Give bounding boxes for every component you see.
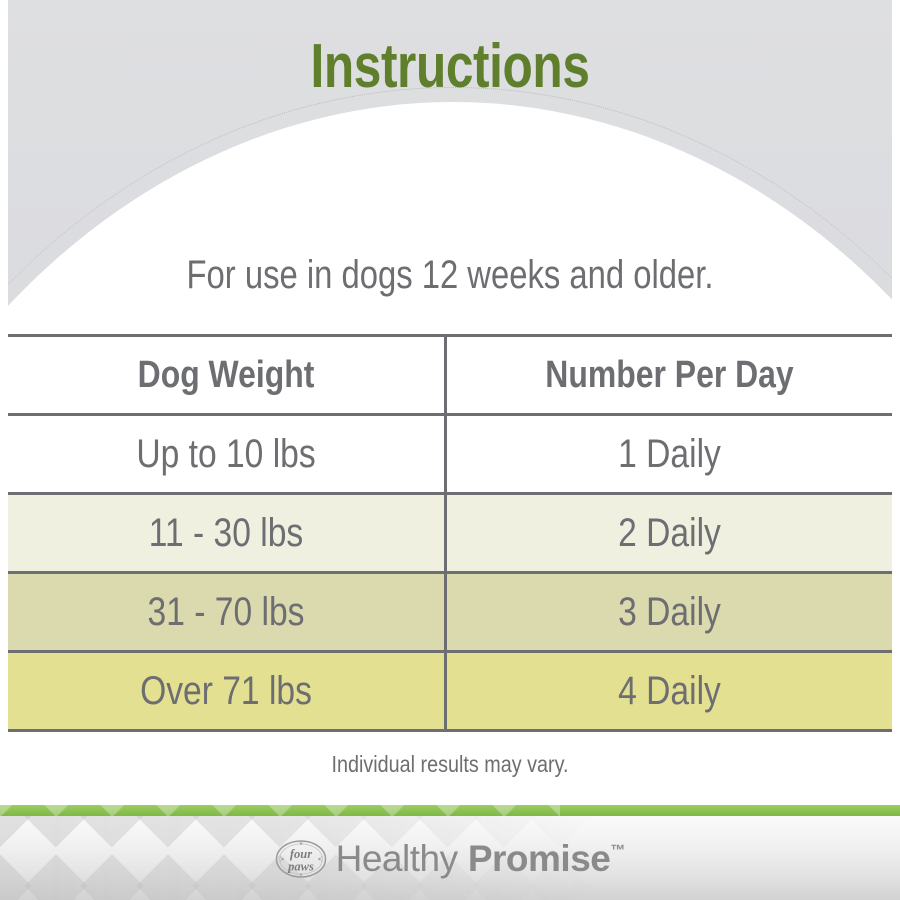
brand-name: Healthy Promise™ [336, 840, 626, 877]
instructions-panel: Instructions For use in dogs 12 weeks an… [0, 0, 900, 900]
svg-text:paws: paws [287, 860, 314, 874]
dosing-table: Dog Weight Number Per Day Up to 10 lbs 1… [8, 334, 892, 732]
footer-accent-bar-pattern [0, 805, 560, 816]
cell-number-per-day: 2 Daily [446, 494, 893, 573]
cell-number-per-day: 4 Daily [446, 652, 893, 731]
table-row: 31 - 70 lbs 3 Daily [8, 573, 892, 652]
brand-footer: four paws Healthy Pr [0, 805, 900, 900]
cell-dog-weight: Up to 10 lbs [8, 415, 446, 494]
four-paws-oval-logo-icon: four paws [275, 837, 327, 881]
cell-dog-weight: 11 - 30 lbs [8, 494, 446, 573]
svg-text:four: four [290, 847, 312, 861]
column-header-dog-weight: Dog Weight [8, 336, 446, 415]
page-title: Instructions [96, 36, 803, 98]
table-header-row: Dog Weight Number Per Day [8, 336, 892, 415]
disclaimer-text: Individual results may vary. [63, 753, 837, 776]
cell-number-per-day: 3 Daily [446, 573, 893, 652]
cell-dog-weight: 31 - 70 lbs [8, 573, 446, 652]
table-row: Up to 10 lbs 1 Daily [8, 415, 892, 494]
table-row: 11 - 30 lbs 2 Daily [8, 494, 892, 573]
table-row: Over 71 lbs 4 Daily [8, 652, 892, 731]
usage-subtitle: For use in dogs 12 weeks and older. [81, 255, 819, 295]
cell-number-per-day: 1 Daily [446, 415, 893, 494]
cell-dog-weight: Over 71 lbs [8, 652, 446, 731]
trademark-symbol: ™ [610, 842, 625, 859]
brand-word-healthy: Healthy [336, 838, 458, 879]
brand-lockup: four paws Healthy Pr [0, 816, 900, 900]
column-header-number-per-day: Number Per Day [446, 336, 893, 415]
brand-word-promise: Promise [468, 838, 611, 879]
